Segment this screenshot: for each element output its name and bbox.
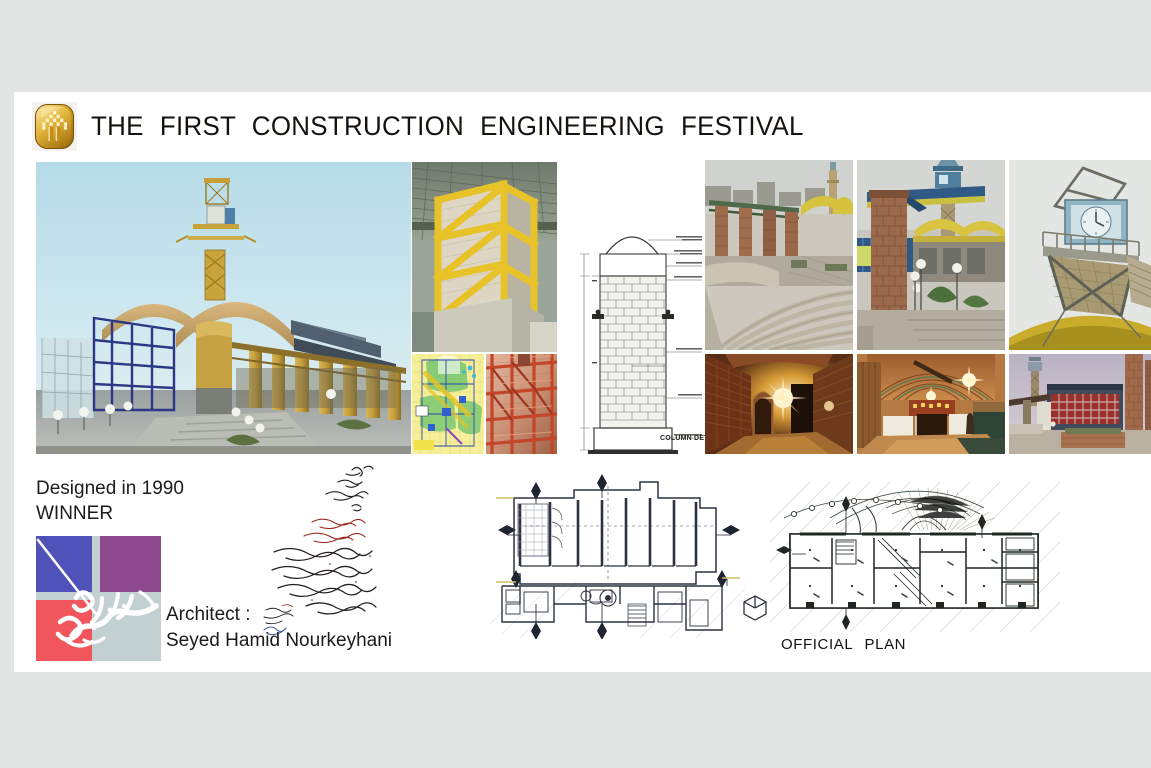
page-title: THE FIRST CONSTRUCTION ENGINEERING FESTI… <box>91 111 804 142</box>
column-detail-drawing <box>570 162 720 454</box>
brick-column-plaza-photo <box>857 160 1005 350</box>
clock-tower-closeup-photo <box>1009 160 1151 350</box>
presentation-board: THE FIRST CONSTRUCTION ENGINEERING FESTI… <box>0 0 1151 768</box>
festival-emblem-icon <box>32 102 77 151</box>
vaulted-hall-photo <box>857 354 1005 454</box>
interior-column-bracing-photo <box>412 162 557 352</box>
poster-sheet: THE FIRST CONSTRUCTION ENGINEERING FESTI… <box>14 92 1151 672</box>
architect-studio-logo <box>36 536 161 661</box>
board-header: THE FIRST CONSTRUCTION ENGINEERING FESTI… <box>32 100 833 152</box>
colored-site-plan-image <box>412 354 484 454</box>
credits-block: Designed in 1990 WINNER <box>36 476 456 526</box>
architect-name: Seyed Hamid Nourkeyhani <box>166 628 446 654</box>
dusk-facade-photo <box>1009 354 1151 454</box>
ground-floor-plan-drawing <box>490 474 745 639</box>
official-plan-label: OFFICIAL PLAN <box>781 636 906 653</box>
architect-label: Architect : <box>166 602 446 628</box>
axonometric-cube-marker <box>741 592 769 622</box>
architect-credit-block: Architect : Seyed Hamid Nourkeyhani <box>166 602 446 654</box>
official-plan-drawing <box>770 482 1060 632</box>
steel-scaffold-photo <box>486 354 557 454</box>
designed-year-text: Designed in 1990 <box>36 476 456 501</box>
vaulted-corridor-photo <box>705 354 853 454</box>
award-status-text: WINNER <box>36 501 456 526</box>
amphitheatre-steps-photo <box>705 160 853 350</box>
main-building-exterior-photo <box>36 162 411 454</box>
